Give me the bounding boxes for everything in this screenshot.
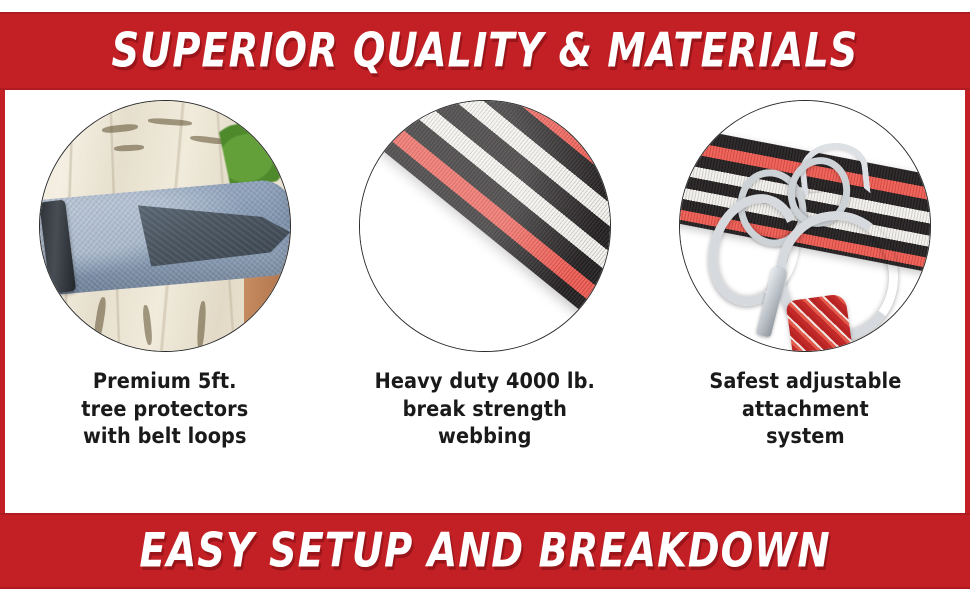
bottom-banner: EASY SETUP AND BREAKDOWN	[0, 513, 970, 589]
feature-image-carabiner	[679, 100, 931, 352]
tree-protector-photo	[40, 101, 290, 351]
feature-webbing-strength: Heavy duty 4000 lb. break strength webbi…	[335, 100, 635, 451]
feature-image-tree-protector	[39, 100, 291, 352]
carabiner-attachment-photo	[680, 101, 930, 351]
caption-line: break strength	[375, 396, 595, 424]
green-leaf	[218, 115, 291, 190]
infographic-page: SUPERIOR QUALITY & MATERIALS	[0, 0, 970, 600]
webbing-closeup-photo	[360, 101, 610, 351]
feature-image-webbing	[359, 100, 611, 352]
feature-attachment-system: Safest adjustable attachment system	[655, 100, 955, 451]
top-banner: SUPERIOR QUALITY & MATERIALS	[0, 12, 970, 90]
red-rope	[785, 293, 854, 352]
top-banner-title: SUPERIOR QUALITY & MATERIALS	[112, 24, 859, 78]
caption-line: with belt loops	[81, 423, 248, 451]
caption-line: webbing	[375, 423, 595, 451]
caption-line: Heavy duty 4000 lb.	[375, 368, 595, 396]
feature-tree-protectors: Premium 5ft. tree protectors with belt l…	[15, 100, 315, 451]
bottom-banner-title: EASY SETUP AND BREAKDOWN	[139, 524, 830, 578]
caption-line: tree protectors	[81, 396, 248, 424]
feature-caption-tree-protectors: Premium 5ft. tree protectors with belt l…	[81, 368, 248, 451]
caption-line: system	[709, 423, 901, 451]
strap-assembly	[39, 187, 291, 282]
caption-line: attachment	[709, 396, 901, 424]
feature-row: Premium 5ft. tree protectors with belt l…	[5, 100, 965, 500]
feature-caption-webbing-strength: Heavy duty 4000 lb. break strength webbi…	[375, 368, 595, 451]
feature-caption-attachment-system: Safest adjustable attachment system	[709, 368, 901, 451]
caption-line: Premium 5ft.	[81, 368, 248, 396]
caption-line: Safest adjustable	[709, 368, 901, 396]
right-red-border	[965, 12, 970, 585]
